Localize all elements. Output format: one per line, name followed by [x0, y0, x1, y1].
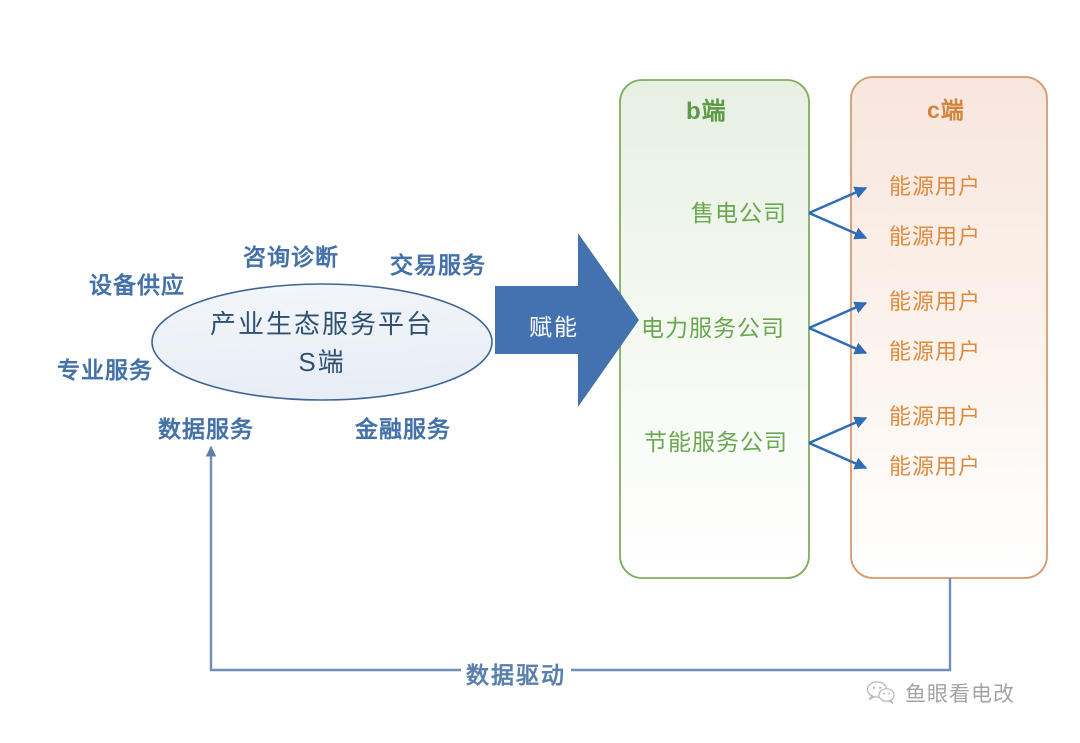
c-item-energy-user-2: 能源用户: [889, 224, 981, 249]
c-item-energy-user-4: 能源用户: [889, 339, 981, 364]
data-driven-label: 数据驱动: [461, 656, 571, 690]
platform-title: 产业生态服务平台 S端: [172, 306, 472, 381]
b-item-power-retail: 售电公司: [691, 200, 787, 226]
watermark: 鱼眼看电改: [866, 678, 1015, 708]
c-item-energy-user-6: 能源用户: [889, 454, 981, 479]
diagram-canvas: 产业生态服务平台 S端 设备供应 咨询诊断 交易服务 专业服务 数据服务 金融服…: [0, 0, 1080, 743]
c-item-energy-user-1: 能源用户: [889, 174, 981, 199]
platform-title-line2: S端: [172, 344, 472, 382]
watermark-text: 鱼眼看电改: [905, 678, 1015, 708]
wechat-icon: [866, 680, 896, 706]
satellite-label-professional-service: 专业服务: [57, 357, 153, 383]
satellite-label-equipment-supply: 设备供应: [89, 272, 185, 298]
satellite-label-trading-service: 交易服务: [390, 252, 486, 278]
b-item-energy-saving-service: 节能服务公司: [644, 429, 788, 455]
data-driven-feedback-path: [211, 447, 950, 670]
satellite-label-data-service: 数据服务: [158, 416, 254, 442]
c-item-energy-user-3: 能源用户: [889, 289, 981, 314]
b-panel-heading: b端: [686, 98, 727, 126]
satellite-label-financial-service: 金融服务: [355, 416, 451, 442]
c-panel-box: [851, 77, 1047, 578]
satellite-label-consulting-diagnosis: 咨询诊断: [243, 244, 339, 270]
platform-title-line1: 产业生态服务平台: [172, 306, 472, 344]
b-item-power-service: 电力服务公司: [641, 315, 785, 341]
c-item-energy-user-5: 能源用户: [889, 404, 981, 429]
diagram-vector-layer: [0, 0, 1080, 743]
c-panel-heading: c端: [927, 97, 965, 123]
empower-arrow-label: 赋能: [529, 308, 579, 342]
